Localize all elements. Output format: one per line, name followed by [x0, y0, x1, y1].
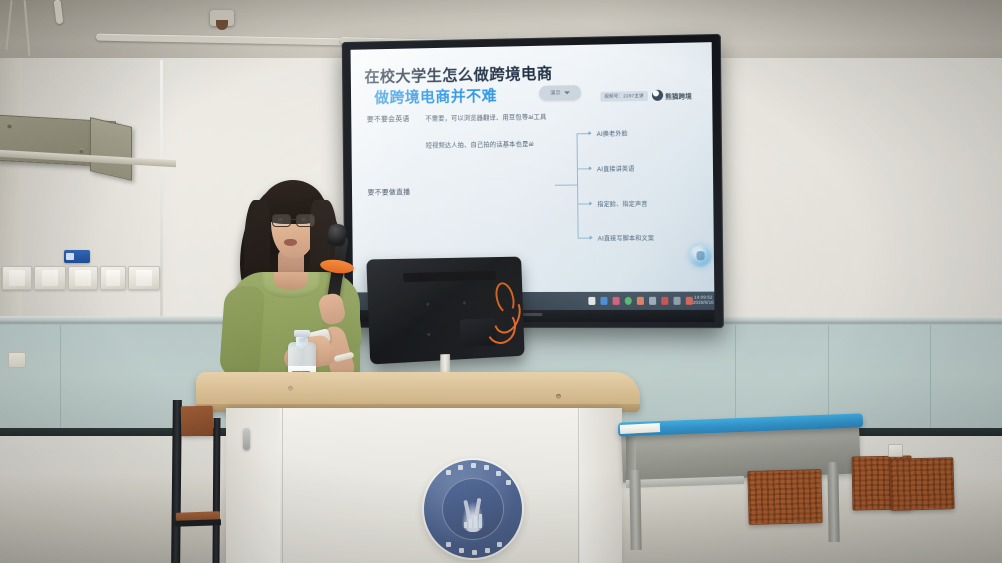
- chair-frame-right: [212, 418, 220, 563]
- electrical-panel-door[interactable]: [90, 117, 132, 181]
- media-player-icon[interactable]: [661, 297, 668, 305]
- wall-outlet[interactable]: [888, 444, 903, 457]
- light-switch[interactable]: [2, 266, 32, 290]
- toolbar-label: 演示: [550, 89, 561, 96]
- slide-watermark: 视频号：2297主讲 熊猫跨境: [600, 89, 692, 102]
- lens-left: [272, 214, 291, 227]
- arrow-icon: [589, 201, 592, 205]
- wall-sticker: [64, 250, 90, 263]
- wall-corner-edge: [160, 60, 163, 318]
- wechat-icon[interactable]: [613, 297, 620, 305]
- power-outlet[interactable]: [68, 266, 98, 290]
- podium-door-handle[interactable]: [243, 428, 250, 450]
- slide-note: 不需要，可以浏览器翻译、用豆包等ai工具: [425, 112, 546, 123]
- calculator-icon[interactable]: [649, 297, 656, 305]
- storage-crate: [747, 469, 822, 525]
- desk-leg: [629, 470, 641, 550]
- power-outlet[interactable]: [100, 266, 126, 290]
- slide-left-branch: 要不要做直播: [368, 187, 411, 197]
- podium-right-face: [580, 408, 622, 563]
- bottle-cap: [294, 330, 310, 337]
- assistant-orb-icon[interactable]: [689, 245, 712, 267]
- slide-right-branch: AI直接讲英语: [597, 164, 635, 173]
- light-switch[interactable]: [128, 266, 160, 290]
- wall-outlet[interactable]: [8, 352, 26, 368]
- light-switch[interactable]: [34, 266, 66, 290]
- slide-toolbar-dropdown[interactable]: 演示: [539, 85, 581, 101]
- neckline: [274, 272, 308, 290]
- panda-logo-icon: [652, 90, 663, 101]
- mindmap-stem: [555, 185, 578, 186]
- slide-right-branch: AI直接写脚本和文案: [598, 233, 654, 242]
- brand-logo: 熊猫跨境: [652, 89, 692, 101]
- college-emblem: [424, 460, 522, 558]
- wainscot-seam: [930, 325, 931, 435]
- clock-date: 2025/6/10: [693, 301, 714, 306]
- podium-seam: [578, 408, 579, 563]
- ceiling-mounted-device: [210, 10, 234, 26]
- arrow-icon: [590, 235, 593, 239]
- display-brand-mark: [520, 313, 542, 316]
- chair-backrest: [181, 406, 214, 437]
- brand-name: 熊猫跨境: [665, 90, 692, 101]
- taskbar-clock[interactable]: 14:09:52 2025/6/10: [693, 296, 715, 305]
- slide-subtitle: 做跨境电商并不难: [374, 85, 497, 108]
- slide-note: 短视频达人拍、自己拍的话基本也是ai: [426, 139, 534, 149]
- podium-seam: [282, 408, 283, 563]
- emblem-center: [442, 478, 504, 540]
- slide-title: 在校大学生怎么做跨境电商: [364, 62, 552, 87]
- slide-right-branch: AI换老外脸: [597, 129, 628, 139]
- wainscot-seam: [60, 325, 61, 435]
- emblem-bars: [464, 514, 482, 528]
- mouth: [284, 239, 297, 246]
- classroom-photo: 在校大学生怎么做跨境电商 做跨境电商并不难 演示 视频号：2297主讲 熊猫跨境…: [0, 0, 1002, 563]
- settings-icon[interactable]: [673, 297, 680, 305]
- eyeglasses: [272, 214, 316, 226]
- qq-icon[interactable]: [625, 297, 632, 305]
- arrow-icon: [589, 166, 592, 170]
- podium-left-face: [226, 408, 280, 563]
- slide-left-branch: 要不要会英语: [367, 114, 410, 125]
- arrow-icon: [589, 131, 592, 135]
- edge-browser-icon[interactable]: [600, 297, 607, 305]
- notes-icon[interactable]: [686, 297, 693, 305]
- slide-right-branch: 指定脸、指定声音: [597, 199, 647, 209]
- document-icon[interactable]: [637, 297, 644, 305]
- monitor-vent: [403, 271, 496, 282]
- lens-right: [296, 214, 315, 227]
- file-explorer-icon[interactable]: [588, 297, 595, 305]
- storage-crate: [889, 457, 954, 511]
- chevron-down-icon: [564, 91, 570, 94]
- glasses-bridge: [289, 219, 296, 220]
- watermark-tag: 视频号：2297主讲: [600, 90, 648, 101]
- left-sleeve: [219, 285, 265, 380]
- desk-leg: [827, 462, 839, 542]
- mindmap-trunk: [577, 133, 579, 237]
